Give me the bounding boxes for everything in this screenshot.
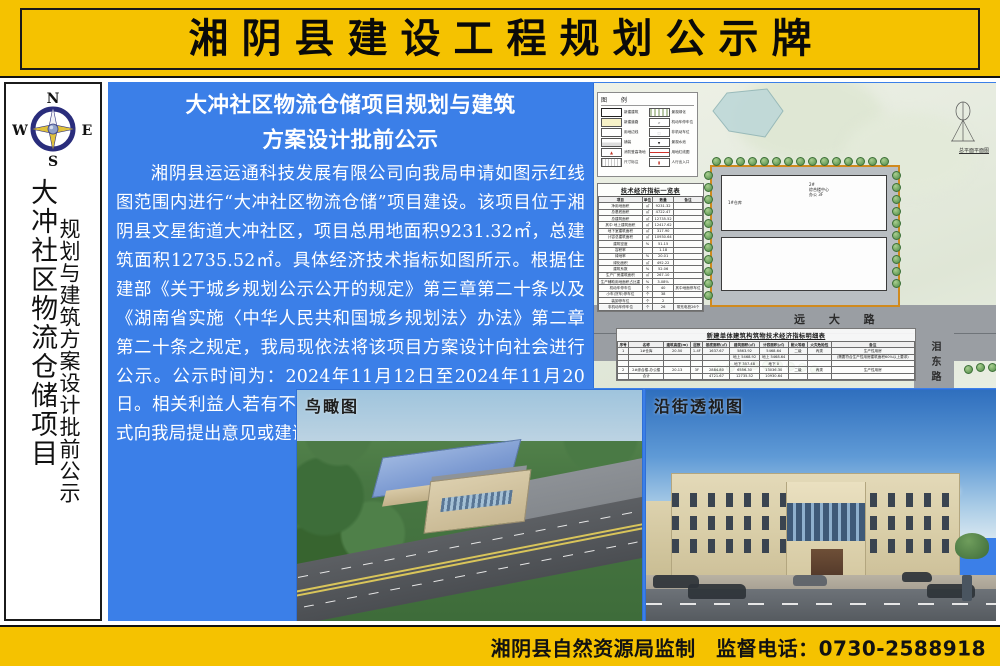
legend-item: ▱ 机动车停车位 [649, 118, 695, 127]
legend-item: ⬚ 非机动车位 [649, 128, 695, 137]
legend-label: 尺寸标注 [624, 160, 638, 165]
legend-box: 图 例 新建建筑 景观绿化 新建道路 ▱ [597, 92, 698, 177]
compass-rose-icon: N S W E [11, 90, 95, 168]
sidebar-subtitle: 规划与建筑方案设计批前公示 [57, 174, 79, 504]
street-tree [955, 533, 989, 559]
table-row: 非机动车停车位个26带充电桩26个 [599, 304, 703, 310]
legend-item: 尺寸标注 [601, 158, 647, 167]
economic-table-title: 技术经济指标一览表 [598, 184, 703, 196]
building-detail-table: 新建单体建筑构筑物技术经济指标明细表 序号 名称 建筑高度(m) 层数 基底面积… [616, 328, 916, 381]
legend-swatch-icon: ⬚ [649, 128, 670, 137]
legend-swatch-icon [601, 138, 622, 147]
car [793, 575, 827, 586]
building-1-annotation: 2#综合楼中心办公 3F [809, 183, 829, 197]
legend-label: 景观绿化 [672, 110, 686, 115]
legend-label: 铺装 [624, 140, 631, 145]
legend-label: 新建道路 [624, 120, 638, 125]
economic-indicator-table: 技术经济指标一览表 项目 单位 数量 备注 净用地面积㎡9231.32 总基底面… [597, 183, 704, 312]
legend-label: 用地红线图 [672, 150, 690, 155]
main-blue-panel: 大冲社区物流仓储项目规划与建筑 方案设计批前公示 湘阴县运运通科技发展有限公司向… [108, 82, 996, 621]
notice-title-line2: 方案设计批前公示 [116, 125, 585, 158]
lane-markings [646, 603, 996, 605]
car [902, 572, 932, 582]
legend-swatch-icon [601, 118, 622, 127]
compass-north-label: N [47, 91, 60, 107]
aerial-photo-label: 鸟瞰图 [305, 393, 359, 417]
legend-swatch-icon: ▮ [649, 158, 670, 167]
legend-item: 景观绿化 [649, 108, 695, 117]
sidebar-vertical-text: 规划与建筑方案设计批前公示 大冲社区物流仓储项目 [6, 174, 100, 614]
road-label-vertical: 泪东路 [927, 341, 942, 386]
legend-swatch-icon: ▼ [649, 138, 670, 147]
legend-label: 机动车停车位 [672, 120, 694, 125]
legend-item: 铺装 [601, 138, 647, 147]
legend-label: 人行出入口 [672, 160, 690, 165]
legend-item: ▮ 人行出入口 [649, 158, 695, 167]
compass-east-label: E [82, 123, 93, 139]
compass-south-label: S [48, 154, 58, 168]
notice-title-line1: 大冲社区物流仓储项目规划与建筑 [116, 90, 585, 123]
building-2-annotation: 1#仓库 [728, 201, 742, 206]
legend-swatch-icon: ▱ [649, 118, 670, 127]
legend-item: ▲ 消防登高场地 [601, 148, 647, 157]
building-2-office [721, 237, 887, 291]
legend-label: 消防登高场地 [624, 150, 646, 155]
header-frame: 湘阴县建设工程规划公示牌 [20, 8, 980, 70]
site-plan-drawing: 远 大 路 泪东路 2#综合楼中心办公 3F 1#仓库 [593, 83, 996, 388]
car [688, 584, 746, 599]
pedestrian [962, 575, 972, 601]
legend-swatch-icon [601, 128, 622, 137]
page-title: 湘阴县建设工程规划公示牌 [176, 19, 825, 59]
legend-label: 用地边线 [624, 130, 638, 135]
legend-label: 景观水池 [672, 140, 686, 145]
sidebar-project-name: 大冲社区物流仓储项目 [27, 174, 55, 468]
north-arrow-icon [943, 101, 983, 147]
pond-shape [709, 87, 789, 147]
legend-swatch-icon [601, 158, 622, 167]
building-table-title: 新建单体建筑构筑物技术经济指标明细表 [617, 329, 915, 341]
board-header: 湘阴县建设工程规划公示牌 [0, 0, 1000, 78]
window-band [787, 503, 864, 541]
legend-item: 新建道路 [601, 118, 647, 127]
legend-item: 用地边线 [601, 128, 647, 137]
aerial-view-photo: 鸟瞰图 [296, 389, 643, 621]
site-plan-caption: 总平面平面图 [959, 147, 989, 154]
road-label-horizontal: 远 大 路 [794, 311, 885, 327]
supervision-info: 湘阴县自然资源局监制 监督电话：0730-2588918 [491, 632, 986, 661]
legend-label: 非机动车位 [672, 130, 690, 135]
board-footer: 湘阴县自然资源局监制 监督电话：0730-2588918 [0, 625, 1000, 666]
main-entrance [811, 549, 843, 577]
legend-swatch-icon [649, 108, 670, 117]
table-row: 合计 4721.67 12735.52 10930.64 [618, 373, 915, 379]
legend-swatch-icon: ▲ [601, 148, 622, 157]
publicity-board: 湘阴县建设工程规划公示牌 N S W E 规划与建筑方案设计批前公示 大冲社区物… [0, 0, 1000, 666]
sidebar: N S W E 规划与建筑方案设计批前公示 大冲社区物流仓储项目 [4, 82, 102, 621]
legend-swatch-icon [649, 148, 670, 157]
legend-label: 新建建筑 [624, 110, 638, 115]
street-photo-label: 沿街透视图 [654, 393, 744, 417]
compass-west-label: W [11, 123, 28, 139]
legend-item: 用地红线图 [649, 148, 695, 157]
legend-item: 新建建筑 [601, 108, 647, 117]
legend-swatch-icon [601, 108, 622, 117]
street-perspective-photo: 沿街透视图 [645, 389, 996, 621]
legend-grid: 新建建筑 景观绿化 新建道路 ▱ 机动车停车位 [601, 108, 694, 167]
legend-item: ▼ 景观水池 [649, 138, 695, 147]
legend-title: 图 例 [601, 95, 694, 106]
building-1-warehouse [721, 175, 887, 231]
